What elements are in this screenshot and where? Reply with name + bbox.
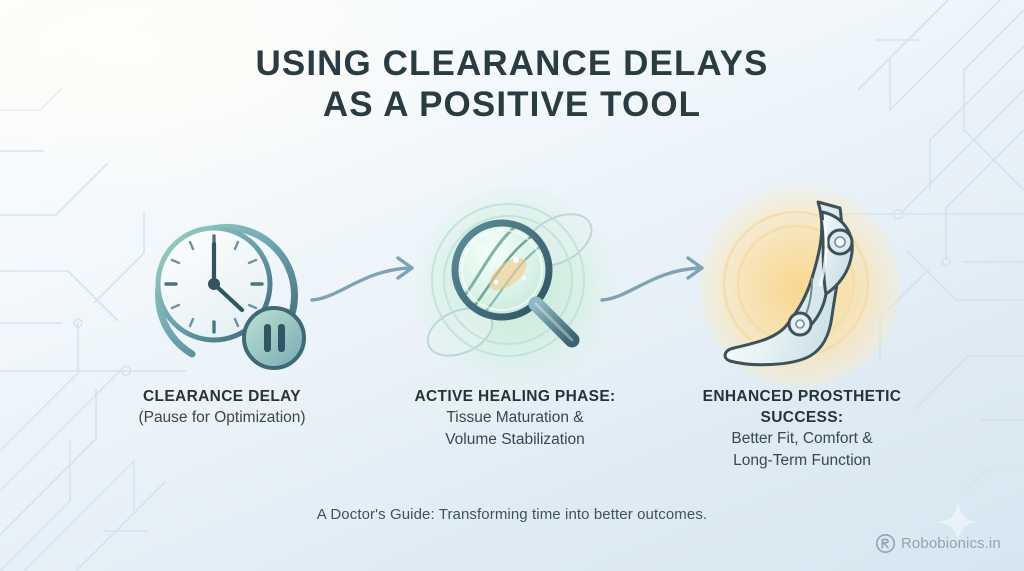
stage-3-heading: ENHANCED PROSTHETIC	[662, 386, 942, 407]
stage-2-subline-1: Tissue Maturation &	[390, 407, 640, 429]
robobionics-logo-icon	[876, 534, 895, 553]
stage-3-caption: ENHANCED PROSTHETIC SUCCESS: Better Fit,…	[662, 386, 942, 472]
stage-caption-row: CLEARANCE DELAY (Pause for Optimization)…	[0, 386, 1024, 478]
arrow-stage1-to-stage2	[306, 238, 436, 308]
title-line-2: AS A POSITIVE TOOL	[0, 84, 1024, 125]
stage-1-icon-group	[122, 186, 322, 386]
stage-3-icon-group	[700, 186, 900, 386]
stage-1-heading: CLEARANCE DELAY	[92, 386, 352, 407]
stage-2-heading: ACTIVE HEALING PHASE:	[390, 386, 640, 407]
stage-2-icon-group	[416, 186, 616, 386]
watermark: Robobionics.in	[876, 534, 1001, 553]
title-line-1: USING CLEARANCE DELAYS	[0, 43, 1024, 84]
footer-note: A Doctor's Guide: Transforming time into…	[0, 506, 1024, 523]
stage-2-subline-2: Volume Stabilization	[390, 429, 640, 451]
stage-1-caption: CLEARANCE DELAY (Pause for Optimization)	[92, 386, 352, 429]
stage-3-heading-2: SUCCESS:	[662, 407, 942, 428]
stage-3-subline-2: Long-Term Function	[662, 450, 942, 472]
page-title: USING CLEARANCE DELAYS AS A POSITIVE TOO…	[0, 43, 1024, 125]
stage-3-subline-1: Better Fit, Comfort &	[662, 428, 942, 450]
prosthetic-leg-icon	[700, 186, 900, 386]
clock-pause-icon	[122, 186, 322, 386]
stage-1-subline-1: (Pause for Optimization)	[92, 407, 352, 429]
infographic-canvas: USING CLEARANCE DELAYS AS A POSITIVE TOO…	[0, 0, 1024, 571]
magnifier-tissue-icon	[416, 186, 616, 386]
stage-2-caption: ACTIVE HEALING PHASE: Tissue Maturation …	[390, 386, 640, 451]
stage-icon-row	[0, 186, 1024, 386]
watermark-brand: Robobionics.in	[901, 535, 1001, 552]
arrow-stage2-to-stage3	[596, 238, 726, 308]
